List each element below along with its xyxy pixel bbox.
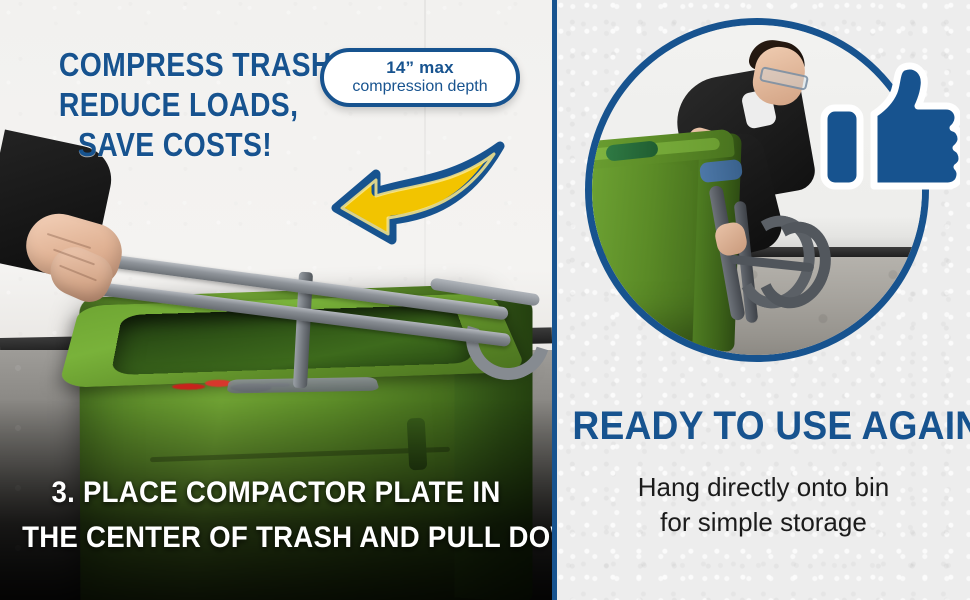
- left-panel: COMPRESS TRASH, REDUCE LOADS, SAVE COSTS…: [0, 0, 552, 600]
- right-headline-text: READY TO USE AGAIN: [572, 402, 970, 450]
- left-caption: 3. PLACE COMPACTOR PLATE IN THE CENTER O…: [0, 470, 552, 560]
- thumbs-up-icon: [818, 58, 960, 200]
- right-subtitle-line-2: for simple storage: [557, 505, 970, 540]
- right-subtitle: Hang directly onto bin for simple storag…: [557, 470, 970, 540]
- product-feature-banner: COMPRESS TRASH, REDUCE LOADS, SAVE COSTS…: [0, 0, 970, 600]
- left-headline: COMPRESS TRASH, REDUCE LOADS, SAVE COSTS…: [40, 45, 310, 165]
- compression-depth-callout: 14” max compression depth: [320, 48, 520, 107]
- left-headline-line-2: REDUCE LOADS,: [59, 85, 291, 125]
- bin-handle: [407, 418, 428, 471]
- left-headline-line-3: SAVE COSTS!: [59, 125, 291, 165]
- left-headline-line-1: COMPRESS TRASH,: [59, 45, 291, 85]
- left-caption-line-2: THE CENTER OF TRASH AND PULL DOWN: [22, 515, 530, 560]
- panel-divider: [552, 0, 557, 600]
- curved-arrow-down-left-icon: [318, 140, 518, 260]
- callout-label: compression depth: [352, 77, 487, 97]
- right-subtitle-line-1: Hang directly onto bin: [557, 470, 970, 505]
- right-headline: READY TO USE AGAIN: [557, 402, 970, 450]
- left-caption-line-1: 3. PLACE COMPACTOR PLATE IN: [22, 470, 530, 515]
- callout-value: 14” max: [386, 58, 454, 77]
